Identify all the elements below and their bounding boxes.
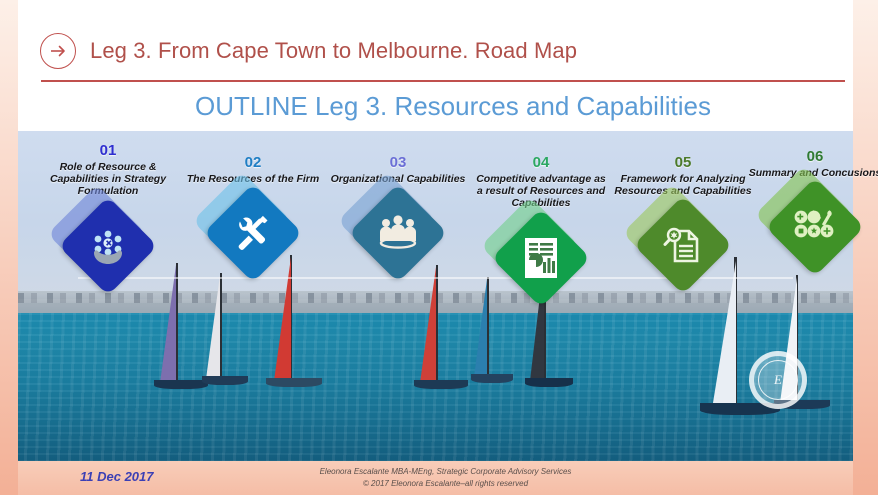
three-people-group-icon bbox=[363, 198, 433, 268]
slide-footer: 11 Dec 2017 Eleonora Escalante MBA-MEng,… bbox=[18, 461, 853, 495]
step-icon-diamond[interactable] bbox=[60, 205, 156, 301]
hands-holding-network-icon bbox=[73, 211, 143, 281]
footer-credit: Eleonora Escalante MBA-MEng, Strategic C… bbox=[18, 466, 853, 489]
circular-seal-watermark: E bbox=[749, 351, 807, 409]
seal-monogram: E bbox=[758, 360, 798, 400]
step-label: Competitive advantage as a result of Res… bbox=[466, 173, 616, 210]
step-number: 04 bbox=[466, 155, 616, 172]
footer-credit-line-1: Eleonora Escalante MBA-MEng, Strategic C… bbox=[38, 466, 853, 478]
step-item-03[interactable]: 03 Organizational Capabilities bbox=[323, 155, 473, 288]
footer-credit-line-2: © 2017 Eleonora Escalante–all rights res… bbox=[38, 478, 853, 490]
step-icon-diamond[interactable] bbox=[205, 192, 301, 288]
step-number: 02 bbox=[178, 155, 328, 172]
step-icon-diamond[interactable] bbox=[767, 186, 863, 282]
document-magnifier-icon bbox=[648, 210, 718, 280]
step-number: 06 bbox=[740, 149, 878, 166]
step-icon-diamond[interactable] bbox=[350, 192, 446, 288]
step-number: 03 bbox=[323, 155, 473, 172]
slide-canvas: Leg 3. From Cape Town to Melbourne. Road… bbox=[0, 0, 878, 495]
step-icon-diamond[interactable] bbox=[493, 217, 589, 313]
slide-header: Leg 3. From Cape Town to Melbourne. Road… bbox=[40, 33, 577, 69]
page-title: Leg 3. From Cape Town to Melbourne. Road… bbox=[90, 38, 577, 64]
step-label: Role of Resource & Capabilities in Strat… bbox=[33, 161, 183, 198]
step-icon-diamond[interactable] bbox=[635, 204, 731, 300]
step-item-01[interactable]: 01 Role of Resource & Capabilities in St… bbox=[33, 143, 183, 301]
step-item-06[interactable]: 06 Summary and Concusions bbox=[740, 149, 878, 282]
step-item-04[interactable]: 04 Competitive advantage as a result of … bbox=[466, 155, 616, 313]
roadmap-steps: 01 Role of Resource & Capabilities in St… bbox=[18, 131, 853, 331]
step-number: 05 bbox=[608, 155, 758, 172]
header-divider bbox=[41, 80, 845, 82]
step-item-05[interactable]: 05 Framework for Analyzing Resources and… bbox=[608, 155, 758, 300]
step-number: 01 bbox=[33, 143, 183, 160]
outline-title: OUTLINE Leg 3. Resources and Capabilitie… bbox=[0, 91, 878, 122]
toolkit-shapes-screwdriver-icon bbox=[780, 192, 850, 262]
step-item-02[interactable]: 02 The Resources of the Firm bbox=[178, 155, 328, 288]
arrow-right-circle-icon bbox=[40, 33, 76, 69]
wrench-hammer-tools-icon bbox=[218, 198, 288, 268]
report-chart-document-icon bbox=[506, 223, 576, 293]
